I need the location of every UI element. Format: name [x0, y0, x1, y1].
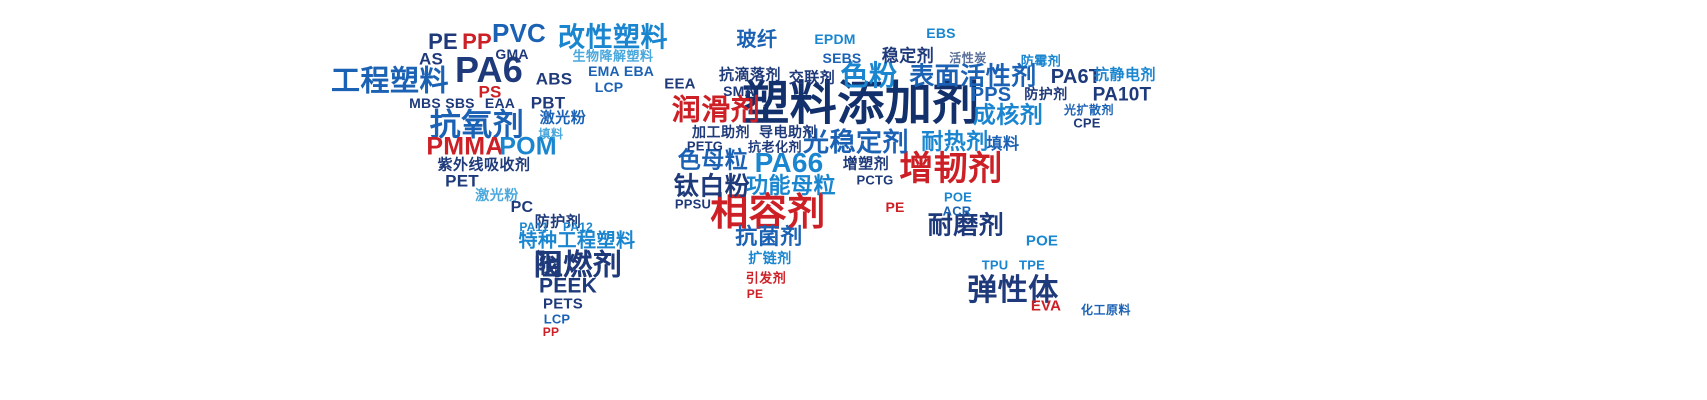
word-cloud-term[interactable]: 活性炭 — [949, 52, 987, 64]
word-cloud-term[interactable]: PET — [445, 173, 479, 190]
word-cloud-term[interactable]: LCP — [544, 313, 571, 326]
word-cloud-term[interactable]: 引发剂 — [746, 273, 787, 286]
word-cloud-term[interactable]: 增塑剂 — [843, 157, 890, 172]
word-cloud-term[interactable]: EAA — [485, 96, 515, 110]
word-cloud-term[interactable]: 填料 — [986, 136, 1019, 152]
word-cloud-term[interactable]: 激光粉 — [540, 111, 587, 126]
word-cloud-term[interactable]: PE — [747, 288, 763, 300]
word-cloud-term[interactable]: 抗滴落剂 — [719, 68, 781, 83]
word-cloud-term[interactable]: 抗老化剂 — [748, 142, 802, 155]
word-cloud-term[interactable]: 润滑剂 — [672, 96, 761, 125]
word-cloud-term[interactable]: PA11 — [519, 221, 548, 233]
word-cloud-term[interactable]: 扩链剂 — [748, 252, 792, 266]
word-cloud-term[interactable]: 工程塑料 — [331, 67, 449, 96]
word-cloud-term[interactable]: 功能母粒 — [746, 176, 836, 198]
word-cloud-term[interactable]: 紫外线吸收剂 — [437, 158, 530, 173]
word-cloud-term[interactable]: PP — [462, 31, 492, 53]
word-cloud-term[interactable]: ABS — [536, 71, 573, 88]
word-cloud-term[interactable]: 防护剂 — [1024, 88, 1068, 102]
word-cloud-term[interactable]: PA12 — [563, 221, 593, 233]
word-cloud-term[interactable]: PEEK — [539, 276, 597, 297]
word-cloud-term[interactable]: 化工原料 — [1081, 304, 1131, 316]
word-cloud-term[interactable]: PA10T — [1093, 86, 1152, 105]
word-cloud-term[interactable]: EEA — [664, 77, 695, 92]
word-cloud-term[interactable]: EBS — [926, 26, 955, 40]
word-cloud-term[interactable]: SEBS — [823, 51, 862, 65]
word-cloud-term[interactable]: AS — [419, 51, 443, 68]
word-cloud-term[interactable]: 交联剂 — [789, 71, 836, 86]
word-cloud-term[interactable]: SMA — [723, 84, 755, 98]
word-cloud-term[interactable]: 导电助剂 — [759, 126, 817, 140]
word-cloud-term[interactable]: PE — [885, 200, 904, 214]
word-cloud-term[interactable]: PETG — [687, 140, 723, 153]
word-cloud-term[interactable]: PPS — [971, 85, 1012, 105]
word-cloud-term[interactable]: 填料 — [538, 128, 563, 140]
word-cloud-term[interactable]: 抗菌剂 — [735, 227, 803, 249]
word-cloud-term[interactable]: PPSU — [675, 198, 711, 211]
word-cloud-term[interactable]: 抗静电剂 — [1094, 68, 1156, 83]
word-cloud-term[interactable]: POE — [1026, 234, 1058, 249]
word-cloud-term[interactable]: 玻纤 — [737, 29, 778, 49]
word-cloud-term[interactable]: 光扩散剂 — [1064, 104, 1114, 116]
word-cloud-term[interactable]: ACR — [943, 205, 972, 218]
word-cloud-term[interactable]: EBA — [624, 64, 654, 78]
word-cloud-term[interactable]: 钛白粉 — [674, 174, 751, 199]
word-cloud-term[interactable]: PETS — [543, 297, 583, 312]
word-cloud-term[interactable]: PCTG — [857, 174, 894, 187]
word-cloud-term[interactable]: MBS — [409, 96, 441, 110]
word-cloud-term[interactable]: 稳定剂 — [882, 49, 935, 66]
word-cloud: 塑料添加剂相容剂增韧剂阀燃剂阻燃剂润滑剂工程塑料PA6抗氧剂改性塑料表面活性剂光… — [0, 0, 1707, 400]
word-cloud-term[interactable]: GMA — [495, 47, 528, 61]
word-cloud-term[interactable]: 生物降解塑料 — [572, 51, 653, 64]
word-cloud-term[interactable]: TPE — [1019, 259, 1045, 272]
word-cloud-term[interactable]: PVC — [492, 20, 546, 46]
word-cloud-term[interactable]: SBS — [445, 96, 474, 110]
word-cloud-term[interactable]: PC — [511, 200, 534, 216]
word-cloud-term[interactable]: POE — [944, 191, 972, 204]
word-cloud-term[interactable]: 改性塑料 — [558, 25, 668, 52]
word-cloud-term[interactable]: EVA — [1031, 299, 1061, 314]
word-cloud-term[interactable]: CPE — [1073, 117, 1100, 130]
word-cloud-term[interactable]: PP — [543, 326, 559, 338]
word-cloud-term[interactable]: 增韧剂 — [899, 152, 1003, 186]
word-cloud-term[interactable]: TPU — [982, 259, 1009, 272]
word-cloud-term[interactable]: 耐热剂 — [921, 132, 989, 154]
word-cloud-term[interactable]: LCP — [595, 80, 624, 94]
word-cloud-term[interactable]: 特种工程塑料 — [518, 232, 635, 251]
word-cloud-term[interactable]: EPDM — [814, 32, 855, 46]
word-cloud-term[interactable]: 成核剂 — [973, 105, 1044, 128]
word-cloud-term[interactable]: EMA — [588, 64, 620, 78]
